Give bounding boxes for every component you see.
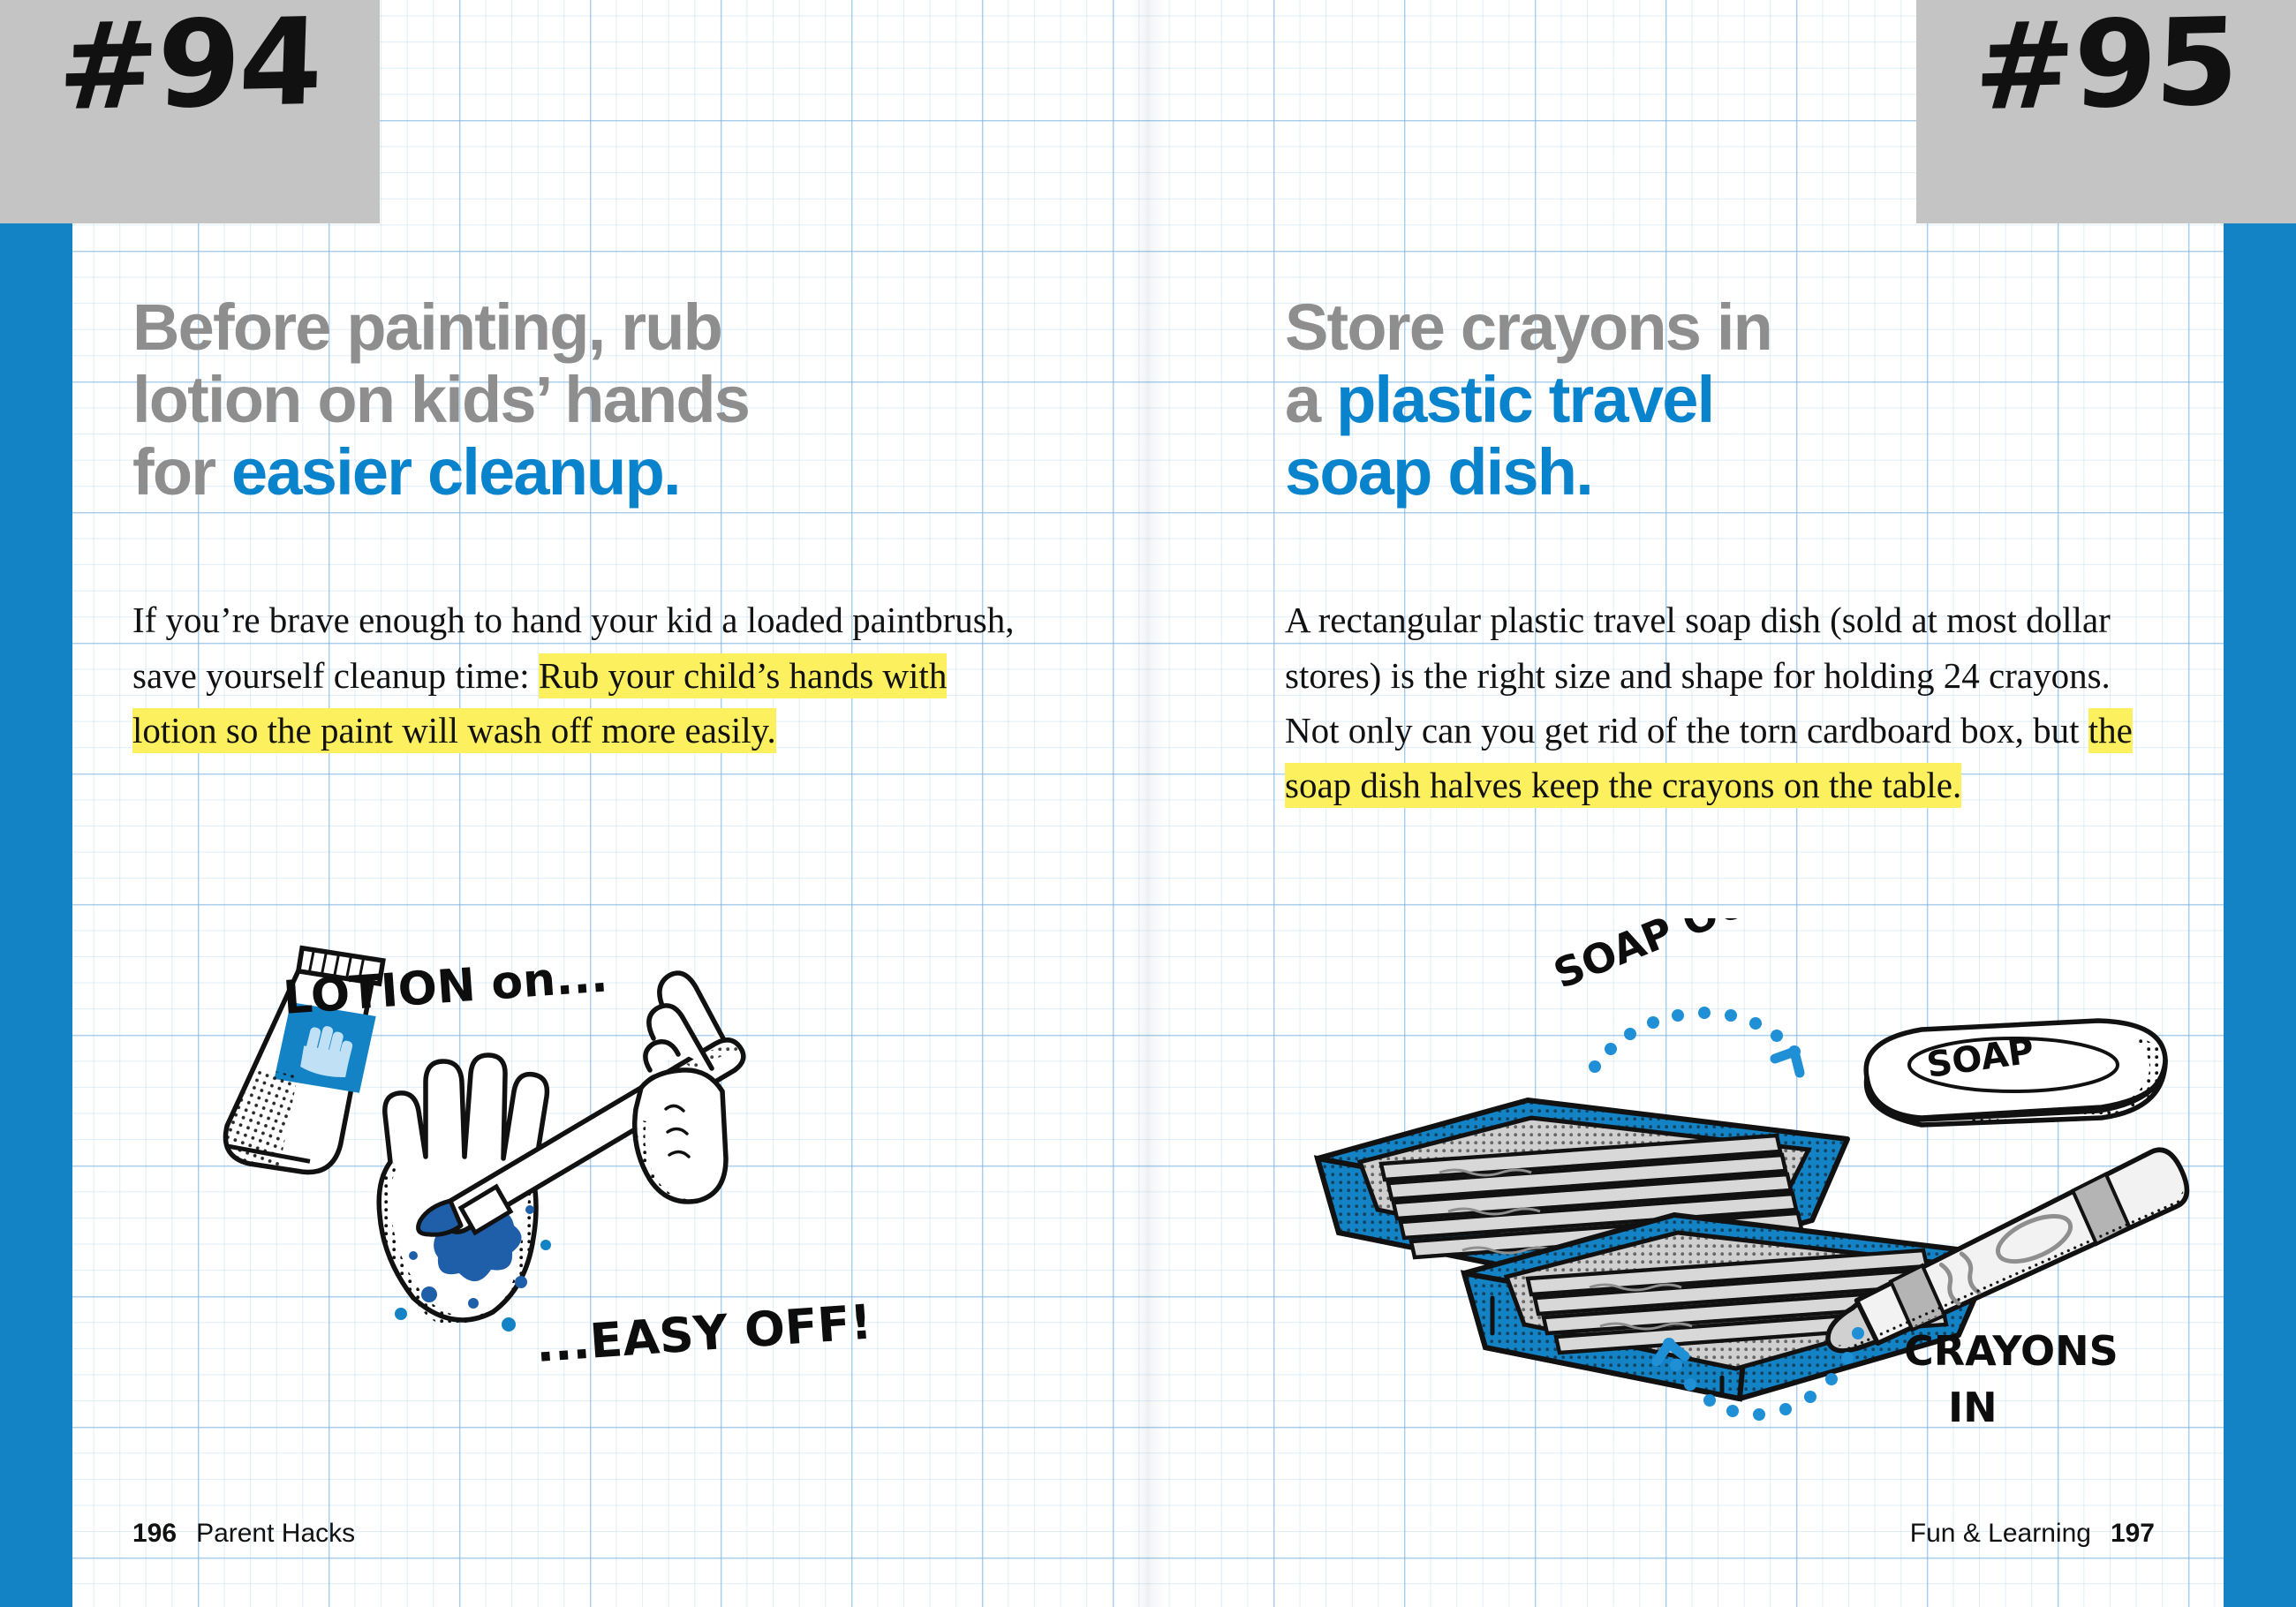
lotion-illustration: LOTION on... ...EASY OFF! xyxy=(185,936,1086,1430)
right-body-text: A rectangular plastic travel soap dish (… xyxy=(1285,592,2168,812)
book-spread: #94 Before painting, rublotion on kids’ … xyxy=(0,0,2296,1607)
gripping-hand-icon xyxy=(635,973,726,1202)
left-column: Before painting, rublotion on kids’ hand… xyxy=(132,291,1024,758)
right-column: Store crayons ina plastic travelsoap dis… xyxy=(1285,291,2177,813)
right-headline-line1: Store crayons in xyxy=(1285,290,1771,364)
left-headline-accent: easier cleanup. xyxy=(231,435,680,509)
left-headline-line2: lotion on kids’ hands xyxy=(132,363,749,436)
hack-number-left: #94 xyxy=(57,3,323,128)
left-footer: 196 Parent Hacks xyxy=(132,1519,355,1549)
easy-off-label: ...EASY OFF! xyxy=(534,1294,874,1373)
left-page-number: 196 xyxy=(132,1519,177,1549)
right-headline-line2: a xyxy=(1285,363,1336,436)
left-headline-line1: Before painting, rub xyxy=(132,290,721,364)
hack-number-tab-left: #94 xyxy=(0,0,380,223)
hack-number-right: #95 xyxy=(1973,3,2239,128)
soap-dish-illustration: SOAP OUT SOAP xyxy=(1307,918,2217,1448)
left-headline-line3: for xyxy=(132,435,231,509)
hack-number-tab-right: #95 xyxy=(1916,0,2296,223)
soap-out-label: SOAP OUT xyxy=(1547,918,1782,998)
soap-out-arrow xyxy=(1589,1007,1801,1073)
soap-bar-icon: SOAP xyxy=(1866,1021,2167,1127)
right-page-number: 197 xyxy=(2111,1519,2155,1549)
crayons-in-label-line1: CRAYONS xyxy=(1904,1327,2119,1375)
right-headline-accent1: plastic travel xyxy=(1336,363,1713,436)
right-footer-section: Fun & Learning xyxy=(1910,1519,2091,1549)
left-headline: Before painting, rublotion on kids’ hand… xyxy=(132,291,1024,508)
right-body-before: A rectangular plastic travel soap dish (… xyxy=(1285,600,2111,751)
right-headline-accent2: soap dish. xyxy=(1285,435,1592,509)
right-headline: Store crayons ina plastic travelsoap dis… xyxy=(1285,291,2177,508)
left-footer-section: Parent Hacks xyxy=(196,1519,355,1549)
crayons-in-label-line2: IN xyxy=(1948,1384,1998,1431)
left-body-text: If you’re brave enough to hand your kid … xyxy=(132,592,1016,758)
right-footer: Fun & Learning 197 xyxy=(1910,1519,2155,1549)
